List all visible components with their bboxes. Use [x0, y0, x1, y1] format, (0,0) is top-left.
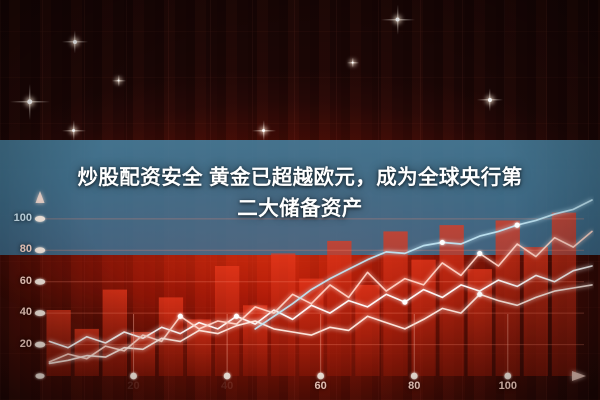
page-title-line-2: 二大储备资产: [14, 193, 586, 224]
page-title-line-1: 炒股配资安全 黄金已超越欧元，成为全球央行第: [14, 162, 586, 193]
screenshot-stage: 炒股配资安全 黄金已超越欧元，成为全球央行第 二大储备资产 2040608010…: [0, 0, 600, 400]
page-title: 炒股配资安全 黄金已超越欧元，成为全球央行第 二大储备资产: [0, 162, 600, 224]
